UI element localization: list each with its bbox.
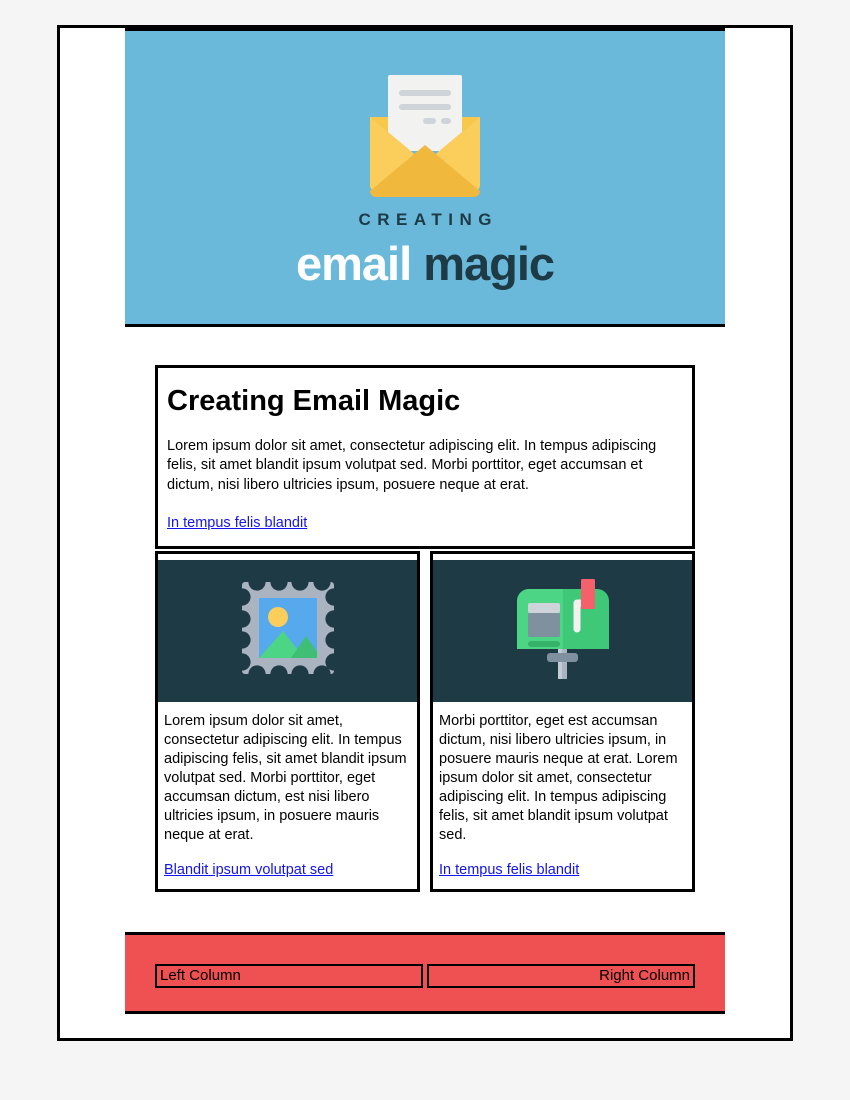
right-column-body: Morbi porttitor, eget est accumsan dictu… xyxy=(433,702,692,890)
postage-stamp-photo-icon xyxy=(236,576,340,685)
header-title-word-2: magic xyxy=(423,237,554,290)
footer-columns: Left Column Right Column xyxy=(155,964,695,988)
email-footer: Left Column Right Column xyxy=(125,932,725,1014)
page-backdrop: CREATING email magic Creating Email Magi… xyxy=(0,0,850,1100)
footer-right-column: Right Column xyxy=(427,964,695,988)
left-column-image xyxy=(158,560,417,702)
header-kicker: CREATING xyxy=(125,210,725,230)
open-envelope-with-letter-icon xyxy=(366,31,484,197)
left-column-card: Lorem ipsum dolor sit amet, consectetur … xyxy=(155,551,420,893)
right-column-link[interactable]: In tempus felis blandit xyxy=(439,862,686,878)
left-column-body: Lorem ipsum dolor sit amet, consectetur … xyxy=(158,702,417,890)
page-title: Creating Email Magic xyxy=(167,386,683,418)
intro-link[interactable]: In tempus felis blandit xyxy=(167,515,307,531)
mailbox-with-flag-icon xyxy=(511,573,615,688)
intro-card: Creating Email Magic Lorem ipsum dolor s… xyxy=(155,365,695,549)
email-frame: CREATING email magic Creating Email Magi… xyxy=(57,25,793,1041)
two-column-section: Lorem ipsum dolor sit amet, consectetur … xyxy=(155,551,695,893)
right-column-text: Morbi porttitor, eget est accumsan dictu… xyxy=(439,712,686,846)
main-bottom-spacer xyxy=(125,892,725,932)
email-header: CREATING email magic xyxy=(125,28,725,327)
header-title: email magic xyxy=(125,239,725,288)
right-column-image xyxy=(433,560,692,702)
right-column-card: Morbi porttitor, eget est accumsan dictu… xyxy=(430,551,695,893)
left-column-link[interactable]: Blandit ipsum volutpat sed xyxy=(164,862,411,878)
email-main: Creating Email Magic Lorem ipsum dolor s… xyxy=(125,327,725,932)
email-body: CREATING email magic Creating Email Magi… xyxy=(125,28,725,1038)
footer-left-column: Left Column xyxy=(155,964,423,988)
left-column-text: Lorem ipsum dolor sit amet, consectetur … xyxy=(164,712,411,846)
intro-body-text: Lorem ipsum dolor sit amet, consectetur … xyxy=(167,437,683,496)
header-title-word-1: email xyxy=(296,237,411,290)
